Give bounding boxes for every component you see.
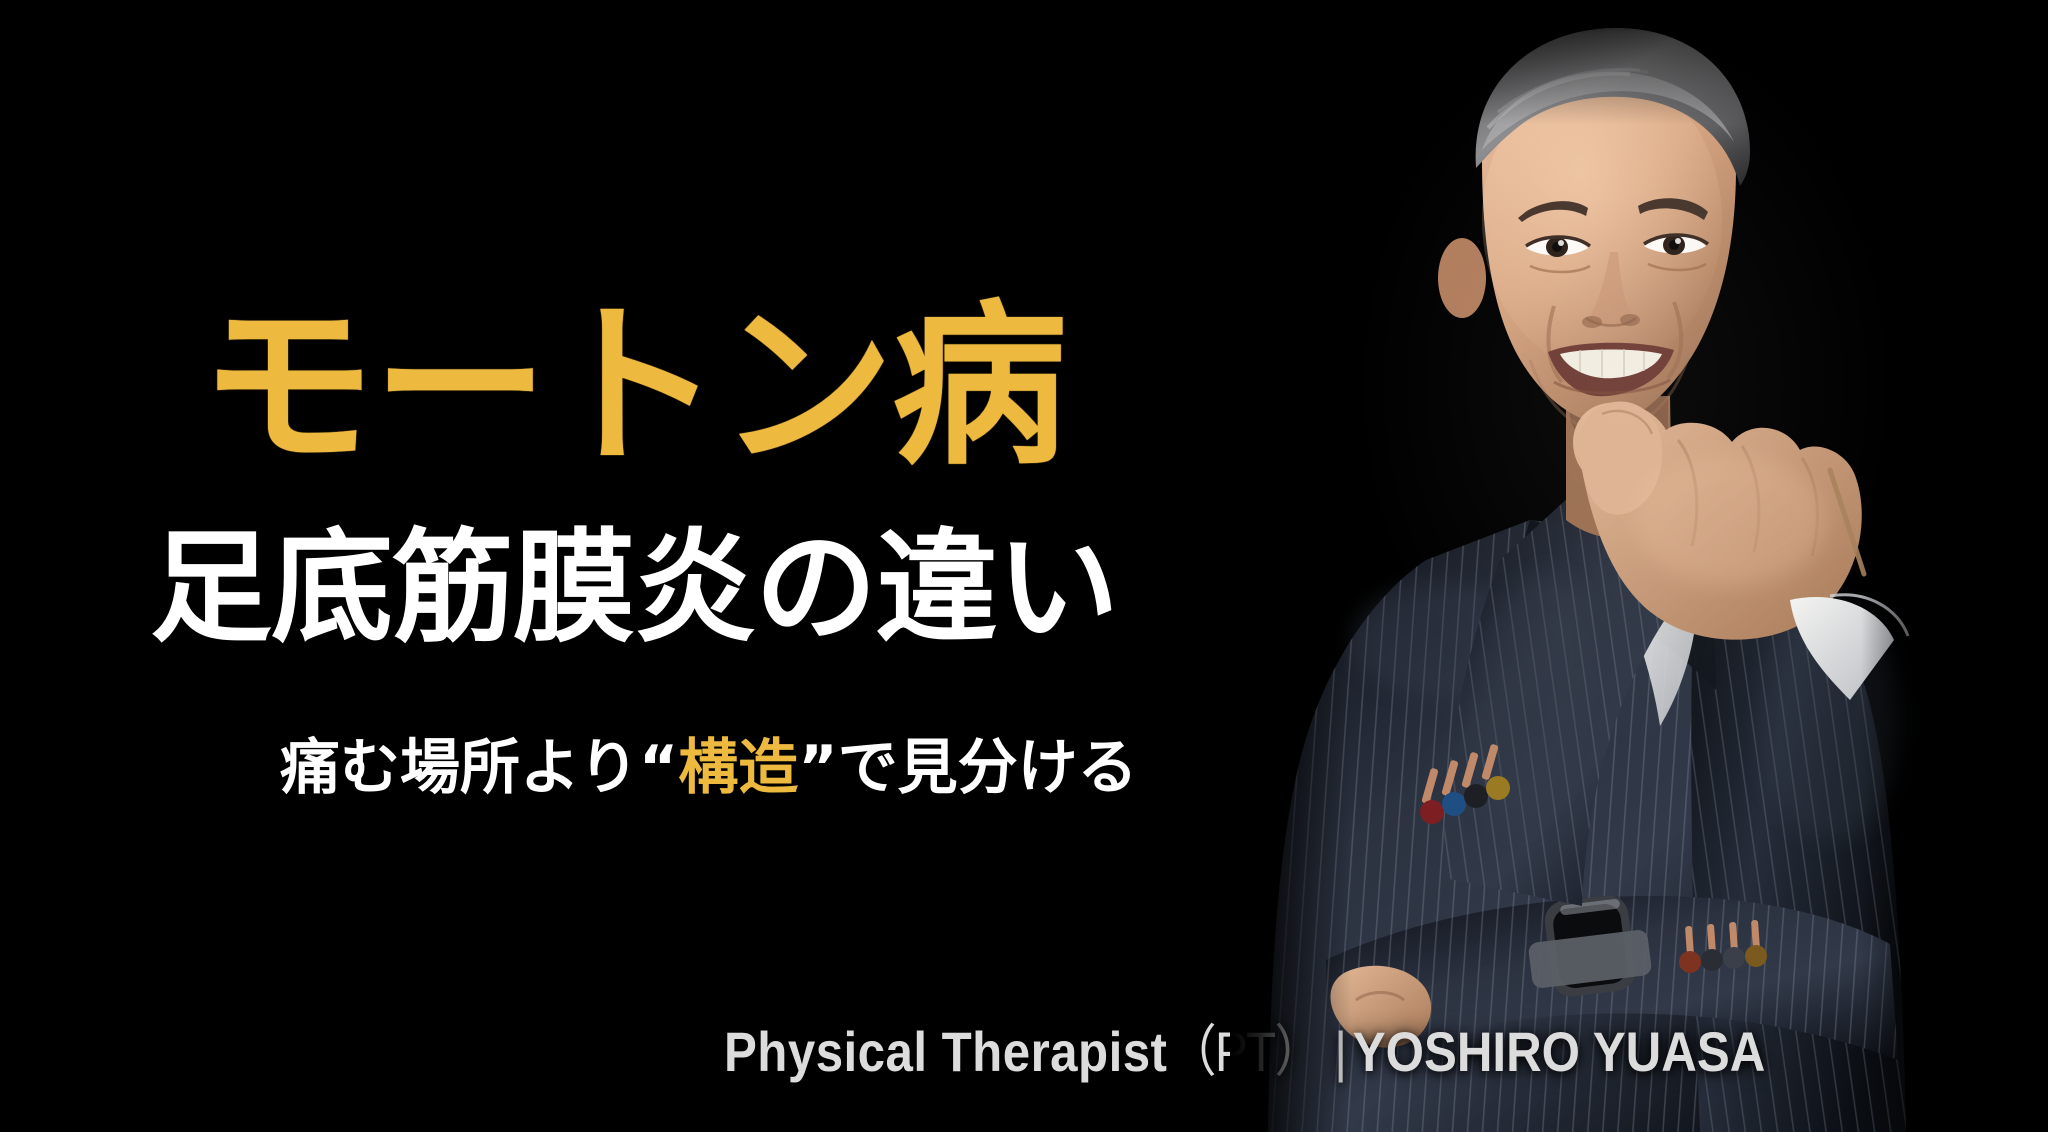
credit-role-paren: （PT） bbox=[1167, 1020, 1321, 1083]
tagline-quote-close: ” bbox=[798, 733, 837, 803]
tagline-highlight: 構造 bbox=[678, 733, 798, 803]
headline-line-2: 足底筋膜炎の違い bbox=[150, 527, 1118, 649]
portrait-illustration bbox=[1230, 0, 1990, 1132]
portrait-photo bbox=[1230, 0, 1990, 1132]
credit-separator: | bbox=[1322, 1024, 1353, 1080]
credit-role: Physical Therapist bbox=[724, 1020, 1167, 1083]
credit-name: YOSHIRO YUASA bbox=[1353, 1020, 1766, 1083]
tagline: 痛む場所より“構造”で見分ける bbox=[280, 738, 1138, 798]
headline-line-1: モートン病 bbox=[200, 300, 1065, 475]
tagline-after: で見分ける bbox=[838, 733, 1138, 803]
thumbnail-canvas: モートン病 足底筋膜炎の違い 痛む場所より“構造”で見分ける Physical … bbox=[0, 0, 2048, 1132]
tagline-before: 痛む場所より bbox=[280, 733, 639, 803]
tagline-quote-open: “ bbox=[639, 733, 678, 803]
credit-line: Physical Therapist（PT）|YOSHIRO YUASA bbox=[724, 1024, 1765, 1080]
